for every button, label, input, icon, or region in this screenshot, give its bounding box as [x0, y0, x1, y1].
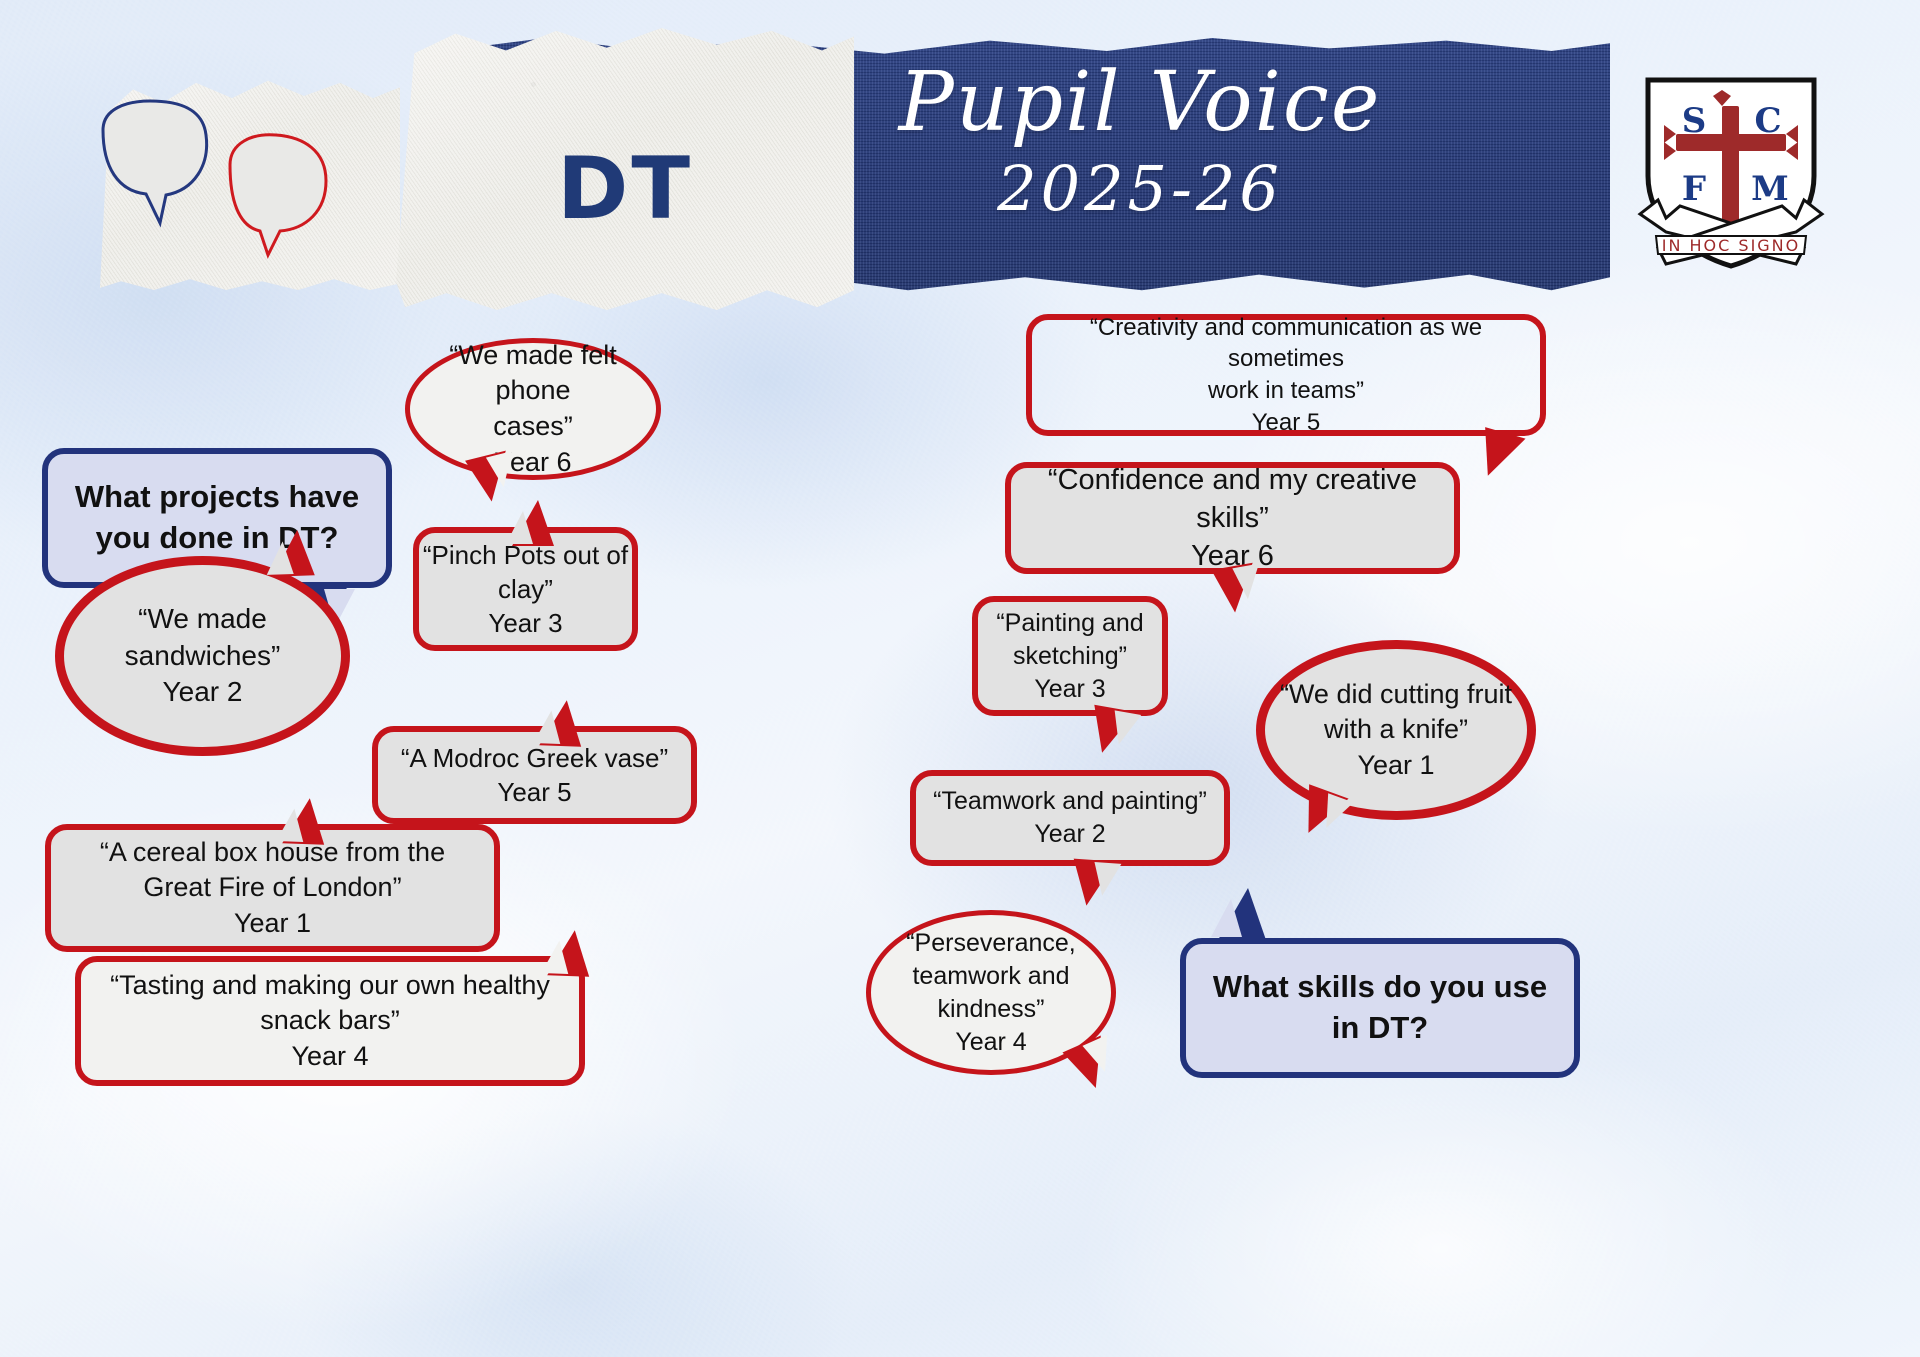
response-tail-cereal-box-house [282, 797, 326, 844]
response-tail-painting-sketching [1086, 705, 1135, 758]
response-bubble-felt-phone-cases[interactable]: “We made felt phone cases” Year 6 [405, 338, 661, 480]
crest-letter-c: C [1754, 101, 1781, 141]
response-text: “A cereal box house from the [100, 835, 445, 871]
response-year: Year 2 [1034, 818, 1105, 851]
response-year: Year 1 [1357, 748, 1434, 784]
response-text: “Teamwork and painting” [933, 785, 1207, 818]
response-bubble-sandwiches[interactable]: “We made sandwiches” Year 2 [55, 556, 350, 756]
response-bubble-creativity-communication[interactable]: “Creativity and communication as we some… [1026, 314, 1546, 436]
response-text: “Tasting and making our own healthy [110, 968, 550, 1004]
crest-motto: IN HOC SIGNO [1662, 236, 1801, 255]
response-text: with a knife” [1324, 712, 1468, 748]
response-bubble-cereal-box-house[interactable]: “A cereal box house from the Great Fire … [45, 824, 500, 952]
response-text: clay” [498, 572, 553, 606]
response-text: kindness” [938, 993, 1045, 1026]
response-text: cases” [493, 409, 573, 445]
response-text: “A Modroc Greek vase” [401, 741, 668, 775]
question-skills-line2: in DT? [1332, 1008, 1428, 1049]
crest-letter-f: F [1682, 169, 1706, 209]
response-bubble-painting-sketching[interactable]: “Painting and sketching” Year 3 [972, 596, 1168, 716]
response-year: Year 5 [497, 775, 571, 809]
school-crest-logo: S C F M IN HOC SIGNO [1636, 72, 1826, 272]
response-bubble-cutting-fruit[interactable]: “We did cutting fruit with a knife” Year… [1256, 640, 1536, 820]
response-year: Year 1 [234, 906, 311, 942]
response-year: Year 3 [1034, 673, 1105, 706]
response-tail-modroc-vase [539, 699, 583, 746]
question-projects-line1: What projects have [75, 477, 359, 518]
response-tail-teamwork-painting [1070, 859, 1115, 908]
response-text: “Perseverance, [906, 927, 1076, 960]
poster-canvas: DT Pupil Voice 2025-26 S C F M IN HOC SI… [0, 0, 1920, 1357]
response-year: Year 2 [163, 674, 243, 711]
response-year: Year 3 [488, 606, 562, 640]
response-tail-felt-phone-cases [465, 451, 517, 506]
crest-letter-s: S [1682, 101, 1707, 141]
subject-title: DT [396, 28, 854, 310]
response-year: Year 5 [1252, 407, 1321, 439]
decorative-speech-bubbles [88, 95, 358, 270]
response-tail-pinch-pots [512, 500, 554, 546]
response-tail-snack-bars [547, 929, 591, 976]
response-year: Year 4 [955, 1026, 1026, 1059]
response-text: teamwork and [912, 960, 1069, 993]
response-text: work in teams” [1208, 375, 1364, 407]
response-text: snack bars” [260, 1003, 400, 1039]
response-bubble-teamwork-painting[interactable]: “Teamwork and painting” Year 2 [910, 770, 1230, 866]
response-bubble-snack-bars[interactable]: “Tasting and making our own healthy snac… [75, 956, 585, 1086]
response-text: “We made felt phone [410, 338, 656, 409]
response-bubble-confidence[interactable]: “Confidence and my creative skills” Year… [1005, 462, 1460, 574]
response-text: “Creativity and communication as we some… [1032, 312, 1540, 375]
response-text: “We made [138, 601, 267, 638]
question-skills-tail [1218, 888, 1266, 940]
crest-letter-m: M [1751, 169, 1789, 209]
response-year: Year 4 [291, 1039, 368, 1075]
response-text: sketching” [1013, 640, 1127, 673]
response-text: “Confidence and my creative skills” [1011, 461, 1454, 538]
response-text: sandwiches” [125, 638, 281, 675]
response-tail-confidence [1211, 563, 1260, 616]
response-text: Great Fire of London” [143, 870, 401, 906]
question-skills-line1: What skills do you use [1213, 967, 1547, 1008]
question-skills-bubble[interactable]: What skills do you use in DT? [1180, 938, 1580, 1078]
response-tail-sandwiches [271, 529, 315, 576]
response-text: “Painting and [996, 607, 1143, 640]
response-text: “We did cutting fruit [1280, 677, 1512, 713]
